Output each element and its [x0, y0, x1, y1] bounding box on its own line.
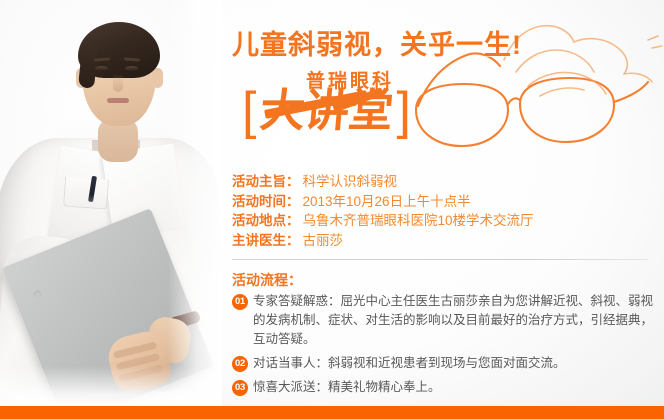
step-number-badge: 02: [232, 356, 248, 372]
eye-left: [95, 66, 108, 71]
info-label: 主讲医生：: [232, 231, 300, 251]
step-number-badge: 01: [232, 294, 248, 310]
info-label: 活动时间：: [232, 192, 300, 212]
coat-pocket: [63, 177, 109, 210]
logo-lockup: 普瑞眼科 [ 大讲堂 ]: [236, 66, 482, 144]
list-item: 03 惊喜大派送：精美礼物精心奉上。: [232, 378, 664, 397]
event-info-block: 活动主旨： 科学认识斜弱视 活动时间： 2013年10月26日上午十点半 活动地…: [232, 172, 664, 250]
info-value: 科学认识斜弱视: [300, 172, 398, 192]
info-value: 2013年10月26日上午十点半: [300, 192, 471, 212]
info-row-location: 活动地点： 乌鲁木齐普瑞眼科医院10楼学术交流厅: [232, 211, 664, 231]
info-row-speaker: 主讲医生： 古丽莎: [232, 231, 664, 251]
bottom-accent-bar: [0, 406, 664, 419]
ear-right: [152, 68, 163, 88]
info-label: 活动地点：: [232, 211, 300, 231]
step-text: 惊喜大派送：精美礼物精心奉上。: [253, 378, 441, 397]
content-column: 儿童斜弱视，关乎一生! 普瑞眼科 [ 大讲堂 ] 活动主旨： 科学认识斜弱视 活…: [232, 0, 664, 406]
doctor-photo: [0, 0, 222, 406]
info-label: 活动主旨：: [232, 172, 300, 192]
step-text: 对话当事人：斜弱视和近视患者到现场与您面对面交流。: [253, 354, 566, 373]
eye-right: [125, 66, 138, 71]
info-row-subject: 活动主旨： 科学认识斜弱视: [232, 172, 664, 192]
info-value: 乌鲁木齐普瑞眼科医院10楼学术交流厅: [300, 211, 534, 231]
photo-fade-right: [168, 0, 222, 406]
mouth: [107, 98, 129, 103]
list-item: 02 对话当事人：斜弱视和近视患者到现场与您面对面交流。: [232, 354, 664, 373]
nose: [113, 74, 123, 92]
section-divider: [232, 259, 648, 260]
info-value: 古丽莎: [300, 231, 344, 251]
process-section-title: 活动流程：: [232, 270, 302, 290]
logo-bracket-right: ]: [396, 86, 410, 136]
page-title: 儿童斜弱视，关乎一生!: [232, 23, 522, 62]
photo-fade-bottom: [0, 366, 222, 406]
logo-bracket-left: [: [242, 86, 256, 136]
process-list: 01 专家答疑解惑：屈光中心主任医生古丽莎亲自为您讲解近视、斜视、弱视的发病机制…: [232, 292, 664, 402]
step-text: 专家答疑解惑：屈光中心主任医生古丽莎亲自为您讲解近视、斜视、弱视的发病机制、症状…: [253, 292, 664, 349]
promotional-poster: 儿童斜弱视，关乎一生! 普瑞眼科 [ 大讲堂 ] 活动主旨： 科学认识斜弱视 活…: [0, 0, 664, 419]
info-row-time: 活动时间： 2013年10月26日上午十点半: [232, 192, 664, 212]
step-number-badge: 03: [232, 380, 248, 396]
list-item: 01 专家答疑解惑：屈光中心主任医生古丽莎亲自为您讲解近视、斜视、弱视的发病机制…: [232, 292, 664, 349]
